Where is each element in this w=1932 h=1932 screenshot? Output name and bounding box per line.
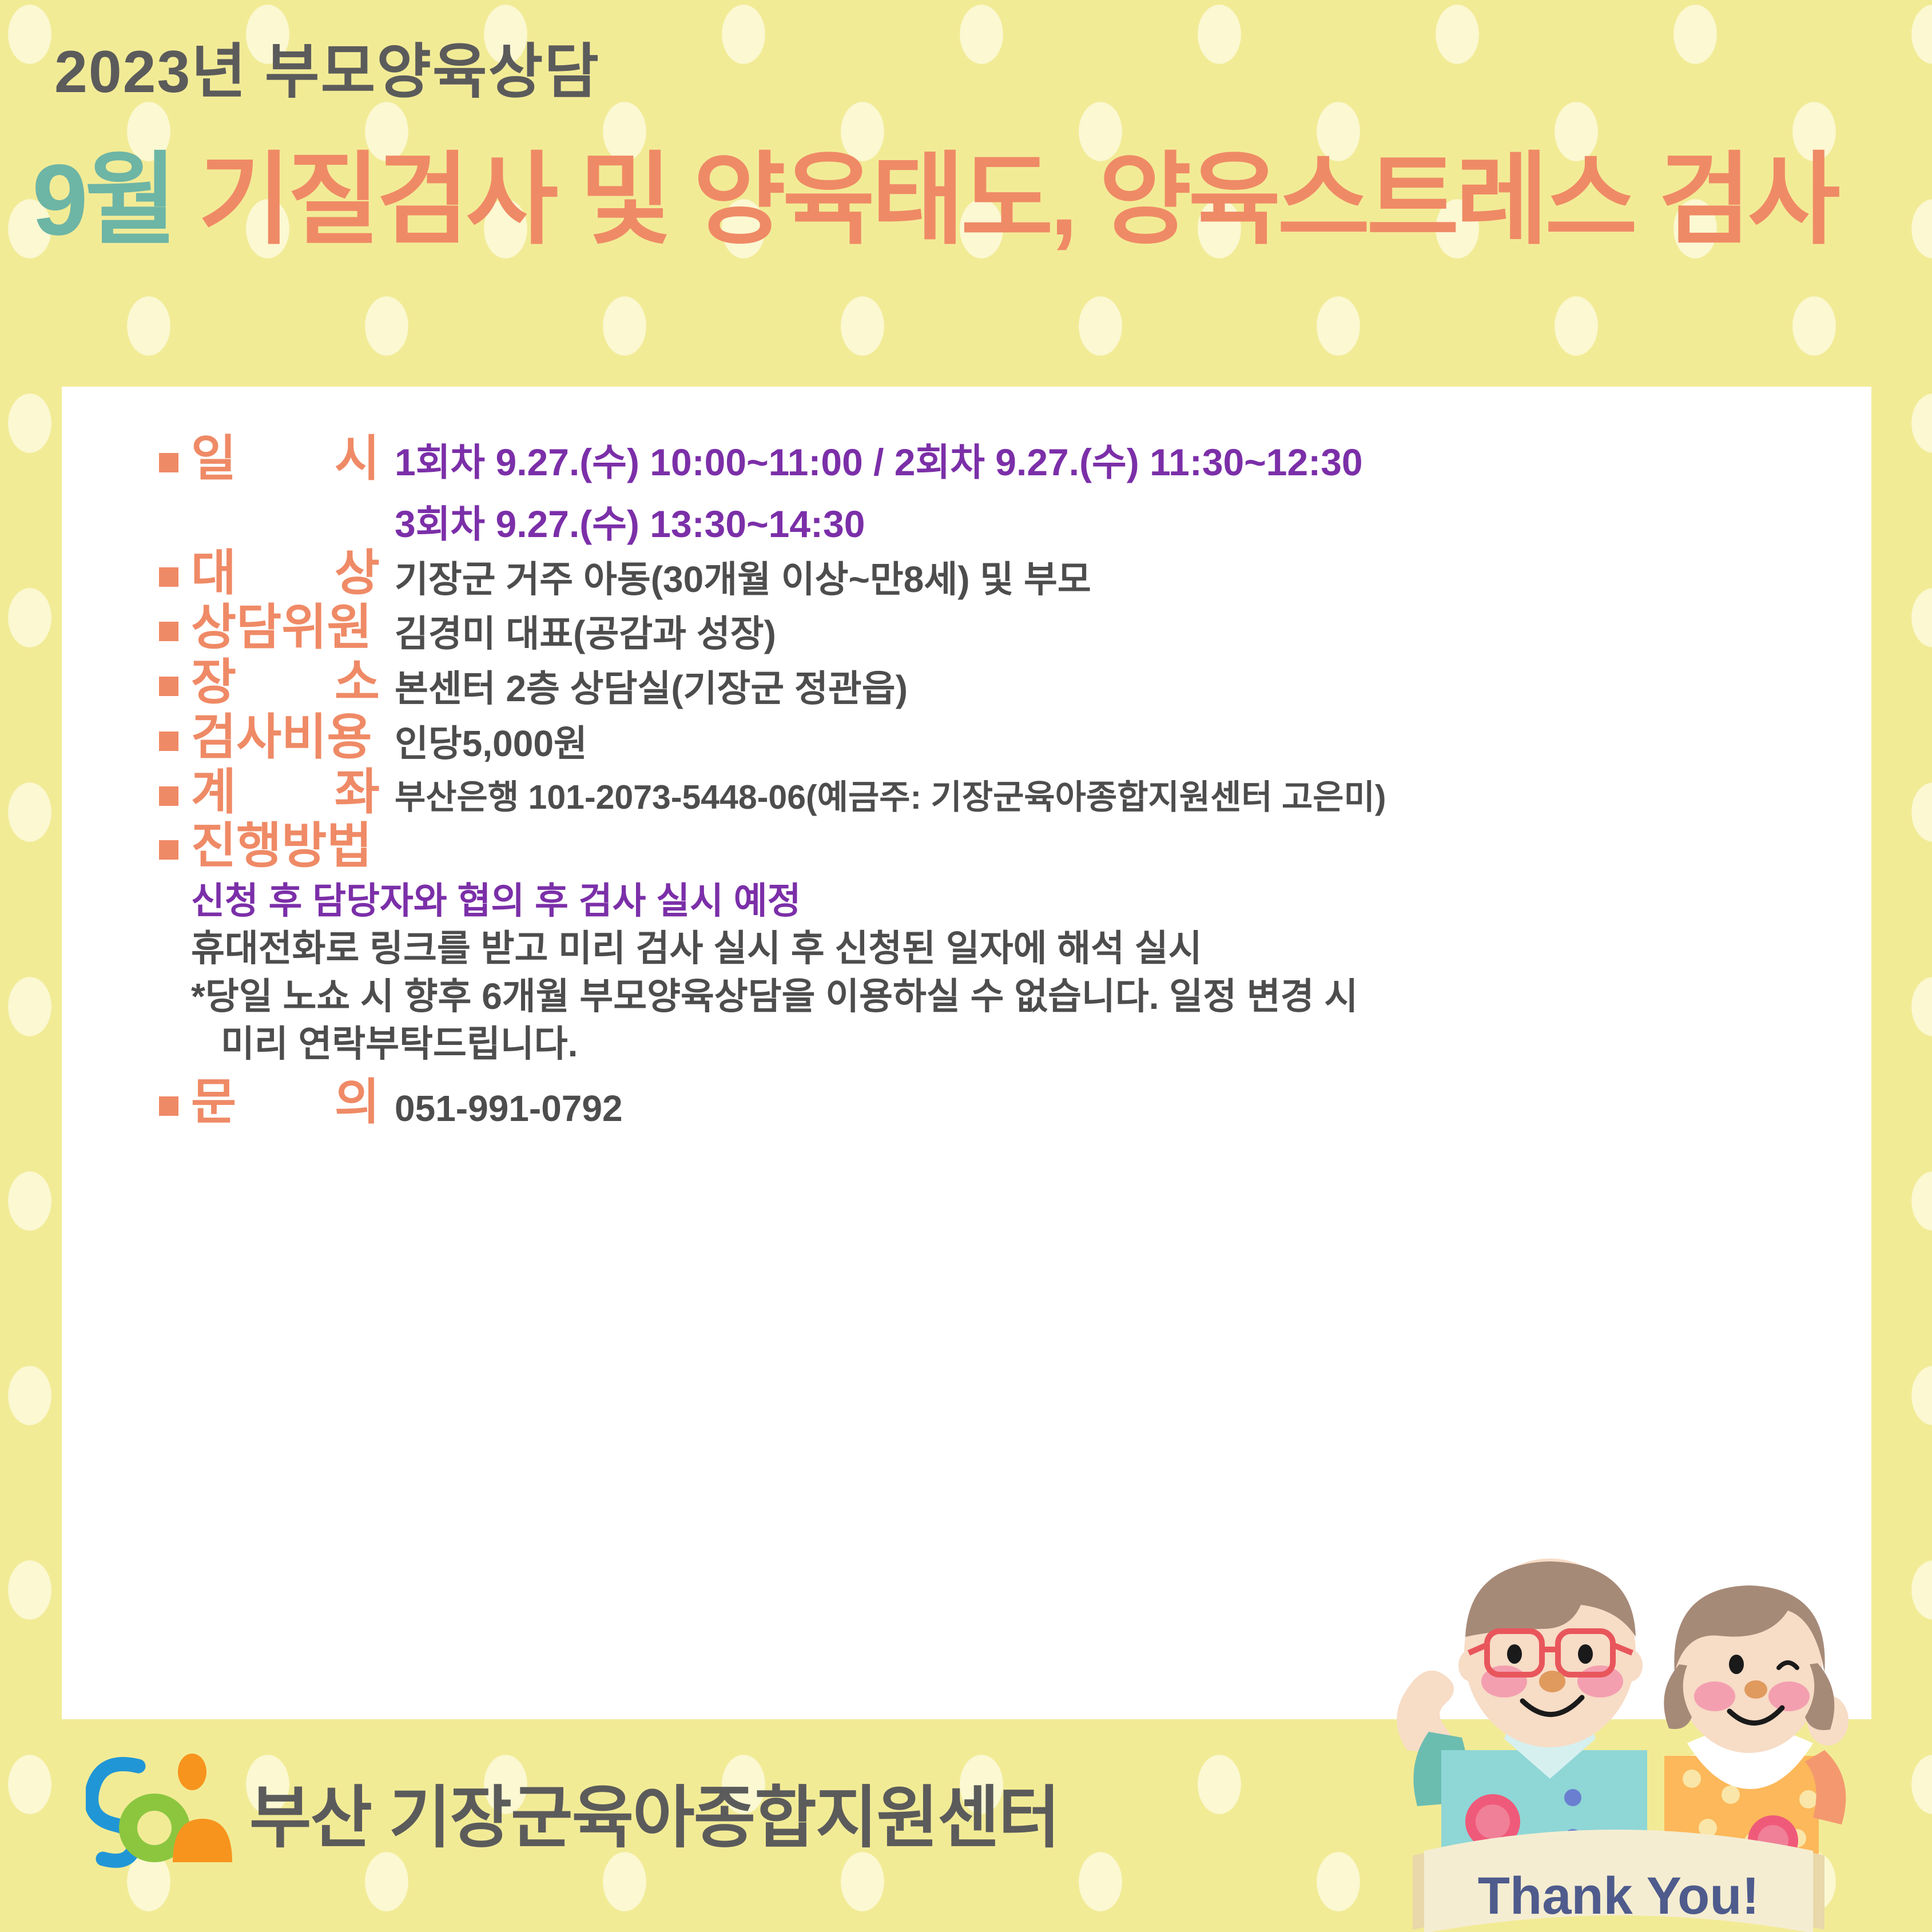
bullet-square-icon bbox=[159, 622, 178, 641]
poster-title: 9월 기질검사 및 양육태도, 양육스트레스 검사 bbox=[32, 150, 1837, 251]
label-part-b: 상 bbox=[335, 547, 380, 600]
label-part-b: 시 bbox=[335, 432, 380, 486]
label-part-b: 좌 bbox=[335, 766, 380, 819]
bullet-square-icon bbox=[159, 840, 178, 860]
row-value-account: 부산은행 101-2073-5448-06(예금주: 기장군육아종합지원센터 고… bbox=[380, 766, 1875, 816]
method-line-3: 미리 연락부탁드립니다. bbox=[191, 1020, 1875, 1068]
footer-org-name: 부산 기장군육아종합지원센터 bbox=[249, 1763, 1059, 1861]
bullet-square-icon bbox=[159, 732, 178, 751]
row-label-target: 대 상 bbox=[191, 547, 380, 600]
row-value-location: 본센터 2층 상담실(기장군 정관읍) bbox=[380, 656, 1875, 710]
row-value-fee: 인당5,000원 bbox=[380, 711, 1875, 765]
info-row-account: 계 좌 부산은행 101-2073-5448-06(예금주: 기장군육아종합지원… bbox=[159, 766, 1875, 819]
label-part-b: 소 bbox=[335, 656, 380, 709]
bullet-square-icon bbox=[159, 1096, 178, 1116]
bullet-square-icon bbox=[159, 567, 178, 587]
elderly-couple-illustration: Thank You! bbox=[1321, 1510, 1899, 1932]
info-row-datetime: 일 시 1회차 9.27.(수) 10:00~11:00 / 2회차 9.27.… bbox=[159, 432, 1875, 546]
bullet-square-icon bbox=[159, 786, 178, 806]
info-row-list: 일 시 1회차 9.27.(수) 10:00~11:00 / 2회차 9.27.… bbox=[159, 432, 1875, 1131]
method-line-2: *당일 노쇼 시 향후 6개월 부모양육상담을 이용하실 수 없습니다. 일정 … bbox=[191, 973, 1875, 1020]
row-value-counselor: 김경미 대표(공감과 성장) bbox=[380, 601, 1875, 655]
label-part-a: 대 bbox=[191, 547, 236, 600]
info-row-counselor: 상담위원 김경미 대표(공감과 성장) bbox=[159, 601, 1875, 655]
info-row-contact: 문 의 051-991-0792 bbox=[159, 1076, 1875, 1130]
row-label-method: 진행방법 bbox=[191, 820, 380, 873]
method-detail-block: 신청 후 담당자와 협의 후 검사 실시 예정 휴대전화로 링크를 받고 미리 … bbox=[191, 877, 1875, 1068]
poster-footer: 부산 기장군육아종합지원센터 bbox=[86, 1750, 1059, 1873]
row-label-datetime: 일 시 bbox=[191, 432, 380, 486]
bullet-square-icon bbox=[159, 677, 178, 696]
thank-you-banner-text: Thank You! bbox=[1478, 1867, 1759, 1925]
info-row-target: 대 상 기장군 거주 아동(30개월 이상~만8세) 및 부모 bbox=[159, 547, 1875, 601]
method-highlight: 신청 후 담당자와 협의 후 검사 실시 예정 bbox=[191, 877, 1875, 925]
label-part-a: 장 bbox=[191, 656, 236, 709]
label-part-a: 문 bbox=[191, 1076, 236, 1129]
datetime-session-3: 3회차 9.27.(수) 13:30~14:30 bbox=[395, 484, 1875, 546]
label-part-b: 의 bbox=[335, 1076, 380, 1129]
center-logo-icon bbox=[86, 1750, 234, 1873]
title-main: 기질검사 및 양육태도, 양육스트레스 검사 bbox=[198, 144, 1837, 256]
bullet-square-icon bbox=[159, 453, 178, 472]
title-month: 9월 bbox=[32, 144, 174, 256]
datetime-session-1-2: 1회차 9.27.(수) 10:00~11:00 / 2회차 9.27.(수) … bbox=[395, 441, 1363, 483]
label-part-a: 일 bbox=[191, 432, 236, 486]
info-row-fee: 검사비용 인당5,000원 bbox=[159, 711, 1875, 765]
label-part-a: 계 bbox=[191, 766, 236, 819]
info-row-method-label: 진행방법 bbox=[159, 820, 1875, 873]
row-label-fee: 검사비용 bbox=[191, 711, 380, 764]
row-value-target: 기장군 거주 아동(30개월 이상~만8세) 및 부모 bbox=[380, 547, 1875, 601]
row-value-contact-phone[interactable]: 051-991-0792 bbox=[380, 1076, 1875, 1130]
row-label-counselor: 상담위원 bbox=[191, 601, 380, 654]
row-label-contact: 문 의 bbox=[191, 1076, 380, 1129]
row-value-datetime: 1회차 9.27.(수) 10:00~11:00 / 2회차 9.27.(수) … bbox=[380, 432, 1875, 546]
method-line-1: 휴대전화로 링크를 받고 미리 검사 실시 후 신청된 일자에 해석 실시 bbox=[191, 925, 1875, 972]
poster-kicker: 2023년 부모양육상담 bbox=[54, 23, 600, 109]
row-label-location: 장 소 bbox=[191, 656, 380, 709]
row-label-account: 계 좌 bbox=[191, 766, 380, 819]
info-row-location: 장 소 본센터 2층 상담실(기장군 정관읍) bbox=[159, 656, 1875, 710]
poster-background: 2023년 부모양육상담 9월 기질검사 및 양육태도, 양육스트레스 검사 일… bbox=[0, 0, 1932, 1932]
